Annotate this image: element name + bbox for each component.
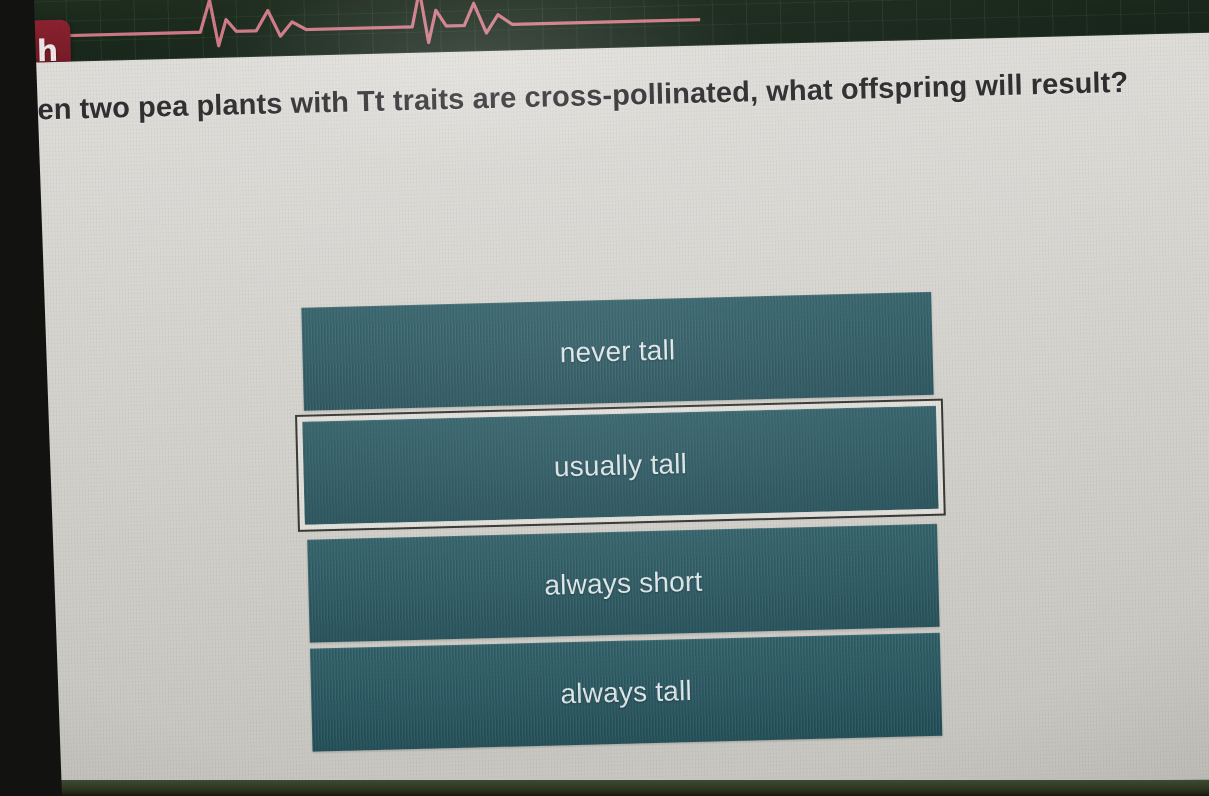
brand-tab-label: alth (0, 33, 59, 64)
brand-tab[interactable]: alth (0, 20, 72, 65)
answer-option-label: never tall (559, 334, 675, 369)
answer-option-label: always tall (560, 675, 692, 710)
screen-content: alth When two pea plants with Tt traits … (0, 0, 1209, 796)
answer-option-always-short[interactable]: always short (307, 524, 939, 643)
answer-option-label: usually tall (553, 448, 687, 483)
answer-option-always-tall[interactable]: always tall (310, 633, 942, 752)
answer-option-never-tall[interactable]: never tall (301, 292, 933, 411)
answer-option-usually-tall[interactable]: usually tall (297, 401, 944, 530)
answer-option-label: always short (544, 565, 703, 601)
answer-options-list: never tall usually tall always short alw… (301, 292, 942, 758)
monitor-photo: alth When two pea plants with Tt traits … (0, 0, 1209, 796)
